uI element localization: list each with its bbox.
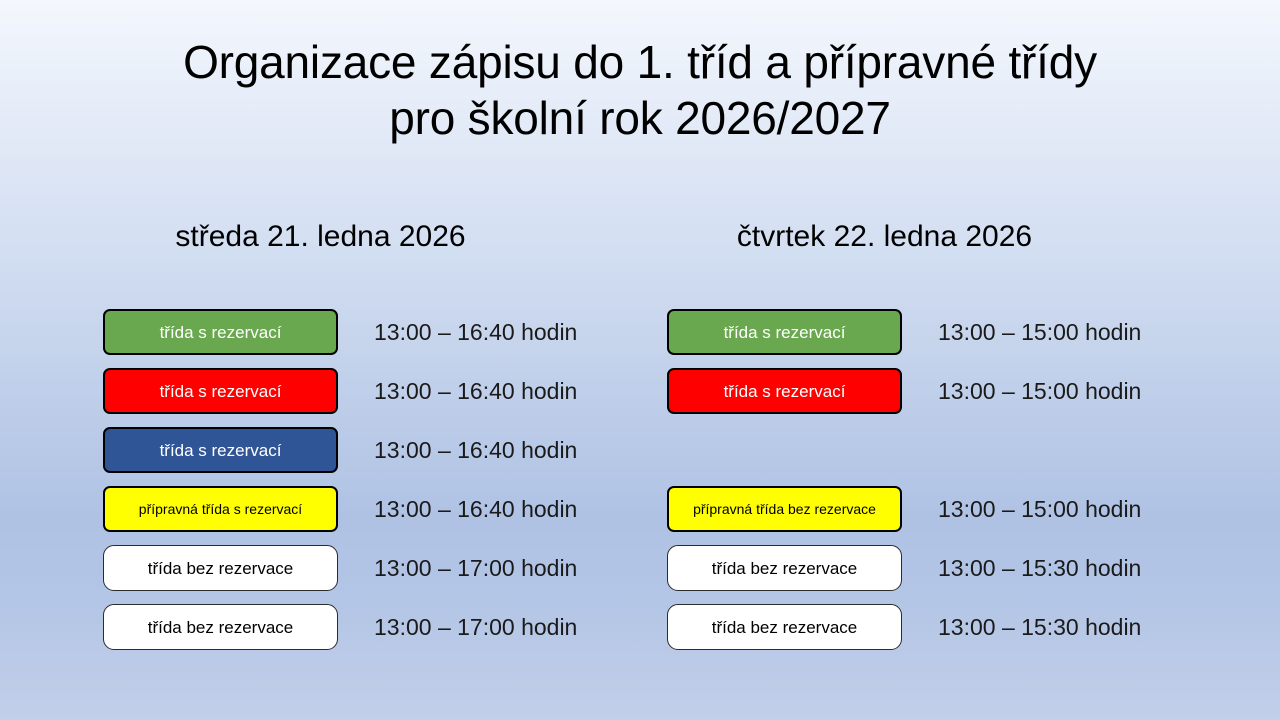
day-heading-wednesday: středa 21. ledna 2026 — [103, 219, 538, 255]
class-type-chip[interactable]: třída s rezervací — [103, 368, 338, 414]
page-title: Organizace zápisu do 1. tříd a přípravné… — [64, 34, 1216, 146]
time-range-label: 13:00 – 16:40 hodin — [374, 368, 577, 414]
class-type-chip[interactable]: třída s rezervací — [667, 368, 902, 414]
schedule-row: třída bez rezervace13:00 – 17:00 hodin — [103, 604, 573, 650]
schedule-row: třída bez rezervace13:00 – 15:30 hodin — [667, 604, 1137, 650]
time-range-label: 13:00 – 15:00 hodin — [938, 309, 1141, 355]
time-range-label: 13:00 – 16:40 hodin — [374, 486, 577, 532]
time-range-label: 13:00 – 16:40 hodin — [374, 309, 577, 355]
schedule-row: třída s rezervací13:00 – 16:40 hodin — [103, 427, 573, 473]
schedule-row: třída bez rezervace13:00 – 15:30 hodin — [667, 545, 1137, 591]
schedule-column-thursday: třída s rezervací13:00 – 15:00 hodintříd… — [667, 309, 1137, 650]
class-type-chip[interactable]: třída bez rezervace — [103, 545, 338, 591]
class-type-chip[interactable]: třída s rezervací — [103, 309, 338, 355]
class-type-chip[interactable]: třída bez rezervace — [103, 604, 338, 650]
schedule-column-wednesday: třída s rezervací13:00 – 16:40 hodintříd… — [103, 309, 573, 650]
class-type-chip[interactable]: třída bez rezervace — [667, 545, 902, 591]
time-range-label: 13:00 – 15:00 hodin — [938, 368, 1141, 414]
schedule-row: třída bez rezervace13:00 – 17:00 hodin — [103, 545, 573, 591]
time-range-label: 13:00 – 17:00 hodin — [374, 604, 577, 650]
time-range-label: 13:00 – 16:40 hodin — [374, 427, 577, 473]
class-type-chip[interactable]: třída s rezervací — [667, 309, 902, 355]
class-type-chip[interactable]: přípravná třída bez rezervace — [667, 486, 902, 532]
class-type-chip[interactable]: třída bez rezervace — [667, 604, 902, 650]
time-range-label: 13:00 – 15:30 hodin — [938, 604, 1141, 650]
class-type-chip[interactable]: přípravná třída s rezervací — [103, 486, 338, 532]
time-range-label: 13:00 – 17:00 hodin — [374, 545, 577, 591]
slide-canvas: Organizace zápisu do 1. tříd a přípravné… — [0, 0, 1280, 720]
schedule-row: třída s rezervací13:00 – 16:40 hodin — [103, 309, 573, 355]
schedule-row: třída s rezervací13:00 – 15:00 hodin — [667, 309, 1137, 355]
time-range-label: 13:00 – 15:30 hodin — [938, 545, 1141, 591]
schedule-row: přípravná třída s rezervací13:00 – 16:40… — [103, 486, 573, 532]
time-range-label: 13:00 – 15:00 hodin — [938, 486, 1141, 532]
day-heading-thursday: čtvrtek 22. ledna 2026 — [667, 219, 1102, 255]
schedule-row: třída s rezervací13:00 – 16:40 hodin — [103, 368, 573, 414]
schedule-row — [667, 427, 1137, 473]
schedule-row: přípravná třída bez rezervace13:00 – 15:… — [667, 486, 1137, 532]
schedule-row: třída s rezervací13:00 – 15:00 hodin — [667, 368, 1137, 414]
class-type-chip[interactable]: třída s rezervací — [103, 427, 338, 473]
